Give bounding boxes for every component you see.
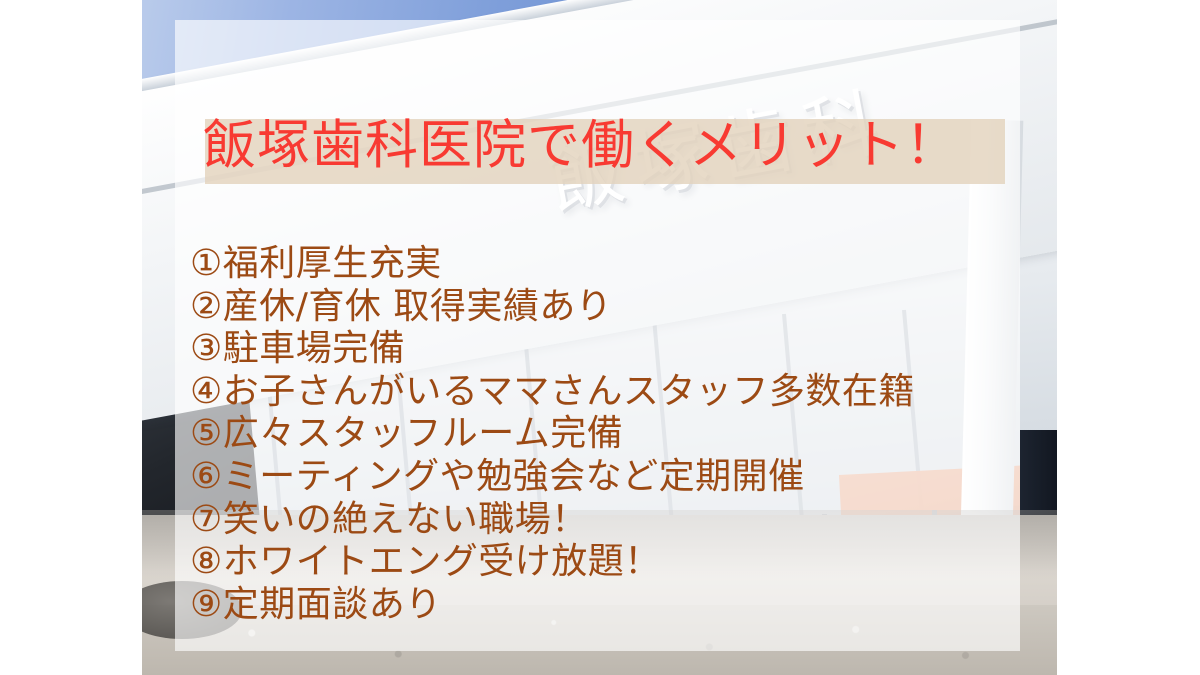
list-item: ⑨定期面談あり bbox=[190, 584, 1020, 627]
list-item: ④お子さんがいるママさんスタッフ多数在籍 bbox=[190, 371, 1020, 414]
list-item: ⑧ホワイトエング受け放題！ bbox=[190, 541, 1020, 584]
list-item: ⑥ミーティングや勉強会など定期開催 bbox=[190, 456, 1020, 499]
page-title: 飯塚歯科医院で働くメリット！ bbox=[203, 114, 1013, 178]
benefits-list: ①福利厚生充実 ②産休/育休 取得実績あり ③駐車場完備 ④お子さんがいるママさ… bbox=[190, 243, 1020, 626]
list-item: ③駐車場完備 bbox=[190, 328, 1020, 371]
list-item: ②産休/育休 取得実績あり bbox=[190, 286, 1020, 329]
slide-canvas: 飯塚歯科 飯塚歯科医院で働くメリット！ ①福利厚生充実 ②産休/育休 取得実績あ… bbox=[0, 0, 1200, 675]
list-item: ①福利厚生充実 bbox=[190, 243, 1020, 286]
list-item: ⑤広々スタッフルーム完備 bbox=[190, 413, 1020, 456]
list-item: ⑦笑いの絶えない職場！ bbox=[190, 499, 1020, 542]
